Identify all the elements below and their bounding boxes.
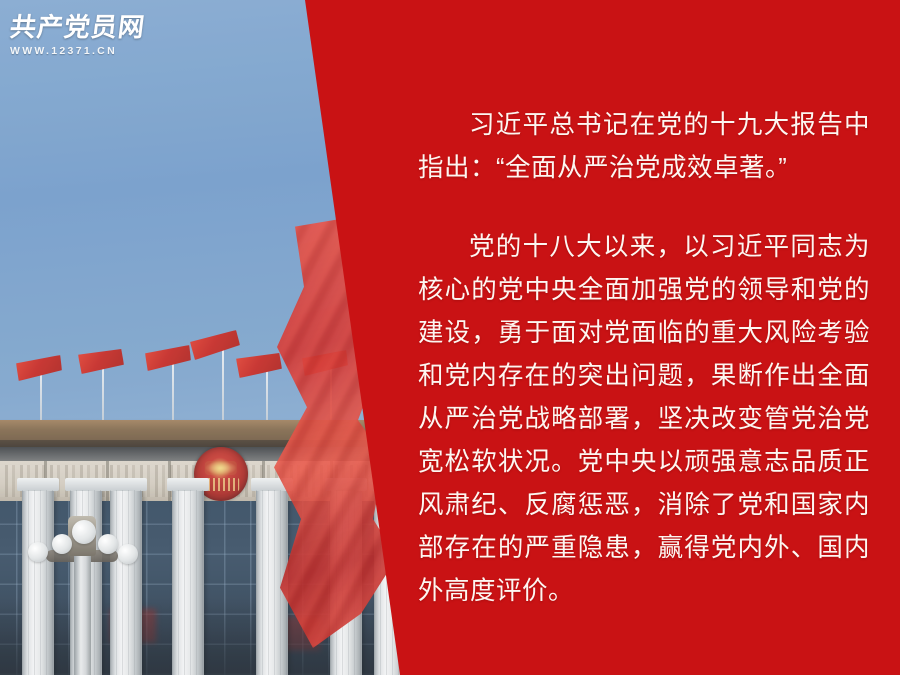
lamp-globe [72, 520, 96, 544]
lamp-post [74, 556, 91, 675]
logo-name-text: 共产党员网 [8, 14, 161, 42]
article-text-block: 习近平总书记在党的十九大报告中指出：“全面从严治党成效卓著。” 党的十八大以来，… [418, 104, 870, 613]
lamp-globe [118, 544, 138, 564]
column [172, 490, 204, 675]
site-logo[interactable]: 共产党员网 WWW.12371.CN [10, 14, 160, 62]
flag-pole [222, 340, 224, 426]
paragraph-quote: 习近平总书记在党的十九大报告中指出：“全面从严治党成效卓著。” [418, 104, 870, 190]
logo-url-text: WWW.12371.CN [10, 45, 160, 57]
lamp-globe [52, 534, 72, 554]
street-lamp [28, 498, 136, 675]
lamp-globe [28, 542, 48, 562]
poster-root: 共产党员网 WWW.12371.CN 习近平总书记在党的十九大报告中指出：“全面… [0, 0, 900, 675]
lamp-globe [98, 534, 118, 554]
paragraph-body: 党的十八大以来，以习近平同志为核心的党中央全面加强党的领导和党的建设，勇于面对党… [418, 226, 870, 613]
